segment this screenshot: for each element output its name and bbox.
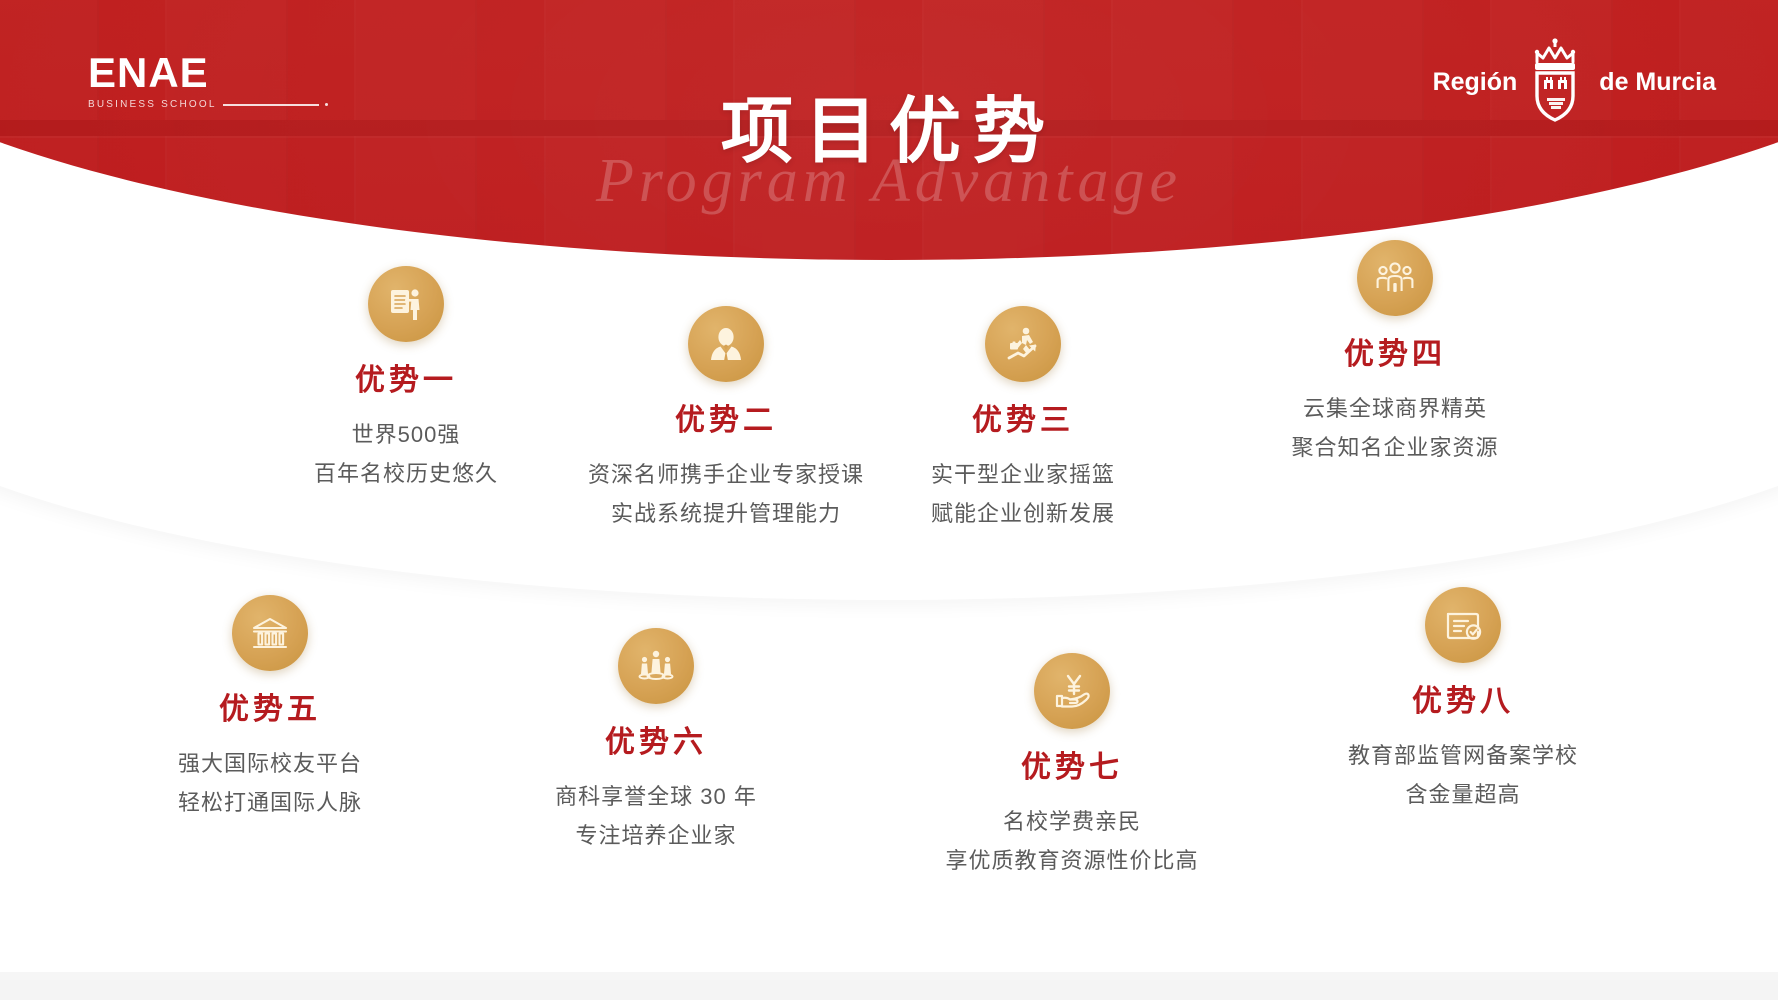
advantage-card-5[interactable]: 优势五 强大国际校友平台 轻松打通国际人脉 [100, 595, 440, 822]
advantage-line: 轻松打通国际人脉 [100, 783, 440, 822]
advantage-line: 赋能企业创新发展 [853, 494, 1193, 533]
advantage-card-1[interactable]: 优势一 世界500强 百年名校历史悠久 [236, 266, 576, 493]
advantage-title: 优势四 [1225, 338, 1565, 371]
advantage-title: 优势六 [486, 726, 826, 759]
hand-holding-yuan-icon [1034, 653, 1110, 729]
advantage-line: 百年名校历史悠久 [236, 454, 576, 493]
group-of-people-icon [1357, 240, 1433, 316]
advantage-line: 强大国际校友平台 [100, 744, 440, 783]
slide-title-cn: 项目优势 [0, 96, 1778, 168]
murcia-text-left: Región [1433, 68, 1518, 97]
advantage-title: 优势三 [853, 404, 1193, 437]
advantage-lines: 名校学费亲民 享优质教育资源性价比高 [902, 802, 1242, 880]
advantage-lines: 资深名师携手企业专家授课 实战系统提升管理能力 [556, 455, 896, 533]
advantage-line: 商科享誉全球 30 年 [486, 777, 826, 816]
advantage-line: 名校学费亲民 [902, 802, 1242, 841]
advantage-lines: 云集全球商界精英 聚合知名企业家资源 [1225, 389, 1565, 467]
slide-title-block: Program Advantage 项目优势 [0, 96, 1778, 168]
advantage-card-6[interactable]: 优势六 商科享誉全球 30 年 专注培养企业家 [486, 628, 826, 855]
advantage-lines: 强大国际校友平台 轻松打通国际人脉 [100, 744, 440, 822]
advantage-card-2[interactable]: 优势二 资深名师携手企业专家授课 实战系统提升管理能力 [556, 306, 896, 533]
advantage-lines: 商科享誉全球 30 年 专注培养企业家 [486, 777, 826, 855]
murcia-text-right: de Murcia [1599, 68, 1716, 97]
advantage-line: 享优质教育资源性价比高 [902, 841, 1242, 880]
advantage-line: 世界500强 [236, 415, 576, 454]
advantage-line: 实战系统提升管理能力 [556, 494, 896, 533]
advantage-title: 优势七 [902, 751, 1242, 784]
advantage-lines: 教育部监管网备案学校 含金量超高 [1293, 736, 1633, 814]
advantage-line: 云集全球商界精英 [1225, 389, 1565, 428]
team-podium-icon [618, 628, 694, 704]
enae-wordmark: ENAE [88, 52, 328, 94]
document-presenter-icon [368, 266, 444, 342]
businessman-icon [688, 306, 764, 382]
advantage-card-8[interactable]: 优势八 教育部监管网备案学校 含金量超高 [1293, 587, 1633, 814]
advantage-card-3[interactable]: 优势三 实干型企业家摇篮 赋能企业创新发展 [853, 306, 1193, 533]
advantage-title: 优势一 [236, 364, 576, 397]
advantage-line: 含金量超高 [1293, 775, 1633, 814]
classical-building-icon [232, 595, 308, 671]
advantage-line: 资深名师携手企业专家授课 [556, 455, 896, 494]
advantage-line: 聚合知名企业家资源 [1225, 428, 1565, 467]
advantage-line: 教育部监管网备案学校 [1293, 736, 1633, 775]
advantage-line: 专注培养企业家 [486, 816, 826, 855]
running-businessman-growth-icon [985, 306, 1061, 382]
advantage-title: 优势二 [556, 404, 896, 437]
advantage-card-4[interactable]: 优势四 云集全球商界精英 聚合知名企业家资源 [1225, 240, 1565, 467]
advantage-title: 优势五 [100, 693, 440, 726]
advantage-line: 实干型企业家摇篮 [853, 455, 1193, 494]
advantage-lines: 实干型企业家摇篮 赋能企业创新发展 [853, 455, 1193, 533]
advantage-card-7[interactable]: 优势七 名校学费亲民 享优质教育资源性价比高 [902, 653, 1242, 880]
advantage-lines: 世界500强 百年名校历史悠久 [236, 415, 576, 493]
certified-document-icon [1425, 587, 1501, 663]
slide-canvas: ENAE BUSINESS SCHOOL Región [0, 0, 1778, 1000]
advantage-title: 优势八 [1293, 685, 1633, 718]
